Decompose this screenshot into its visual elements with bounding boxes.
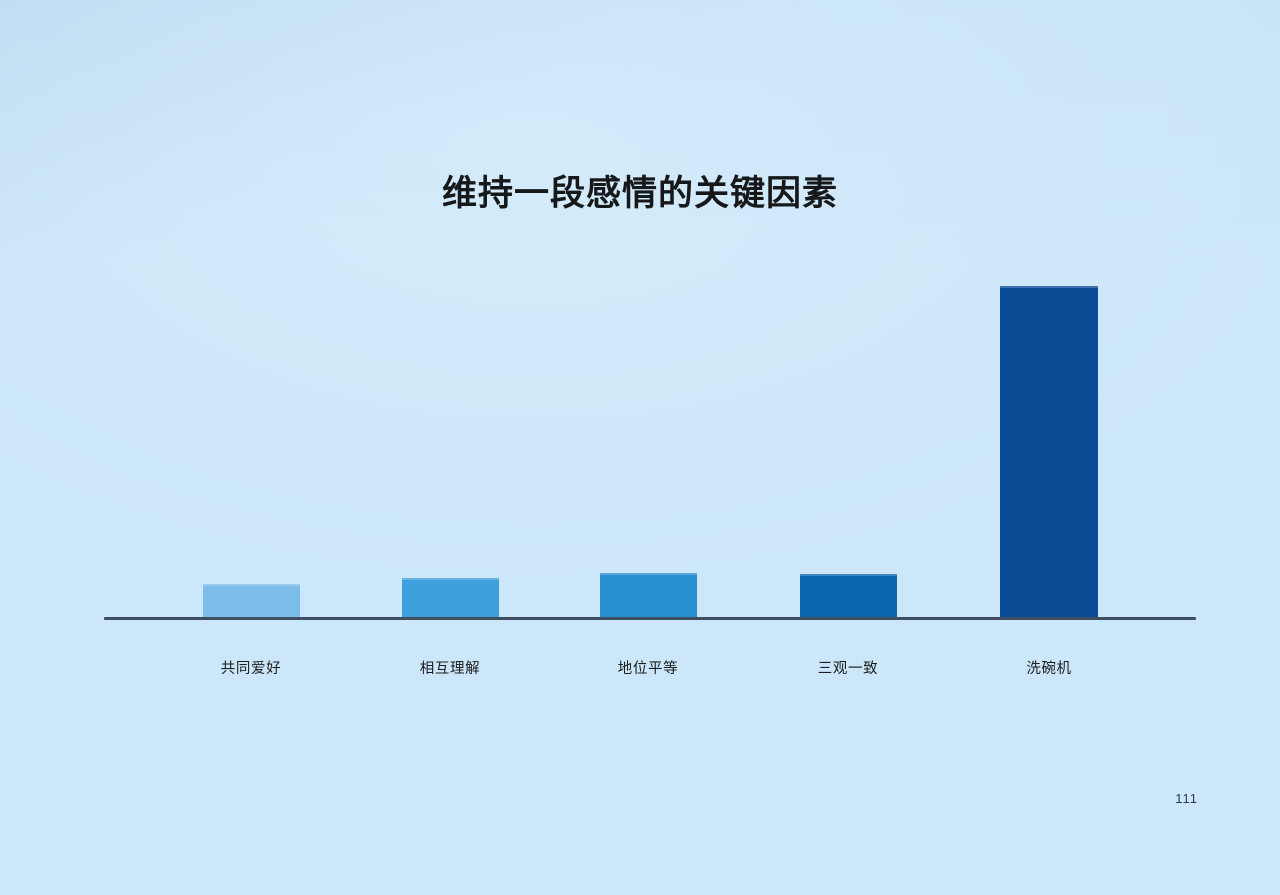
bar-top-highlight (1000, 286, 1098, 288)
chart-title: 维持一段感情的关键因素 (0, 175, 1280, 214)
bar-top-highlight (203, 584, 300, 586)
bar-fill (800, 574, 897, 618)
bar-fill (203, 584, 300, 618)
category-label-2: 相互理解 (360, 657, 540, 678)
x-axis-baseline (104, 617, 1196, 620)
bar-fill (402, 578, 499, 618)
category-label-1: 共同爱好 (161, 657, 341, 678)
category-label-3: 地位平等 (558, 657, 738, 678)
bar-fill (600, 573, 697, 618)
bar-2 (402, 578, 499, 618)
bar-4 (800, 574, 897, 618)
bar-5 (1000, 286, 1098, 618)
slide-canvas: 维持一段感情的关键因素 111 共同爱好相互理解地位平等三观一致洗碗机 (0, 0, 1280, 895)
bar-1 (203, 584, 300, 618)
bar-fill (1000, 286, 1098, 618)
bar-top-highlight (402, 578, 499, 580)
bar-chart-plot-area (104, 250, 1196, 620)
bar-top-highlight (800, 574, 897, 576)
page-number: 111 (1175, 791, 1198, 806)
bar-3 (600, 573, 697, 618)
category-label-5: 洗碗机 (959, 657, 1139, 678)
bar-top-highlight (600, 573, 697, 575)
category-label-4: 三观一致 (758, 657, 938, 678)
